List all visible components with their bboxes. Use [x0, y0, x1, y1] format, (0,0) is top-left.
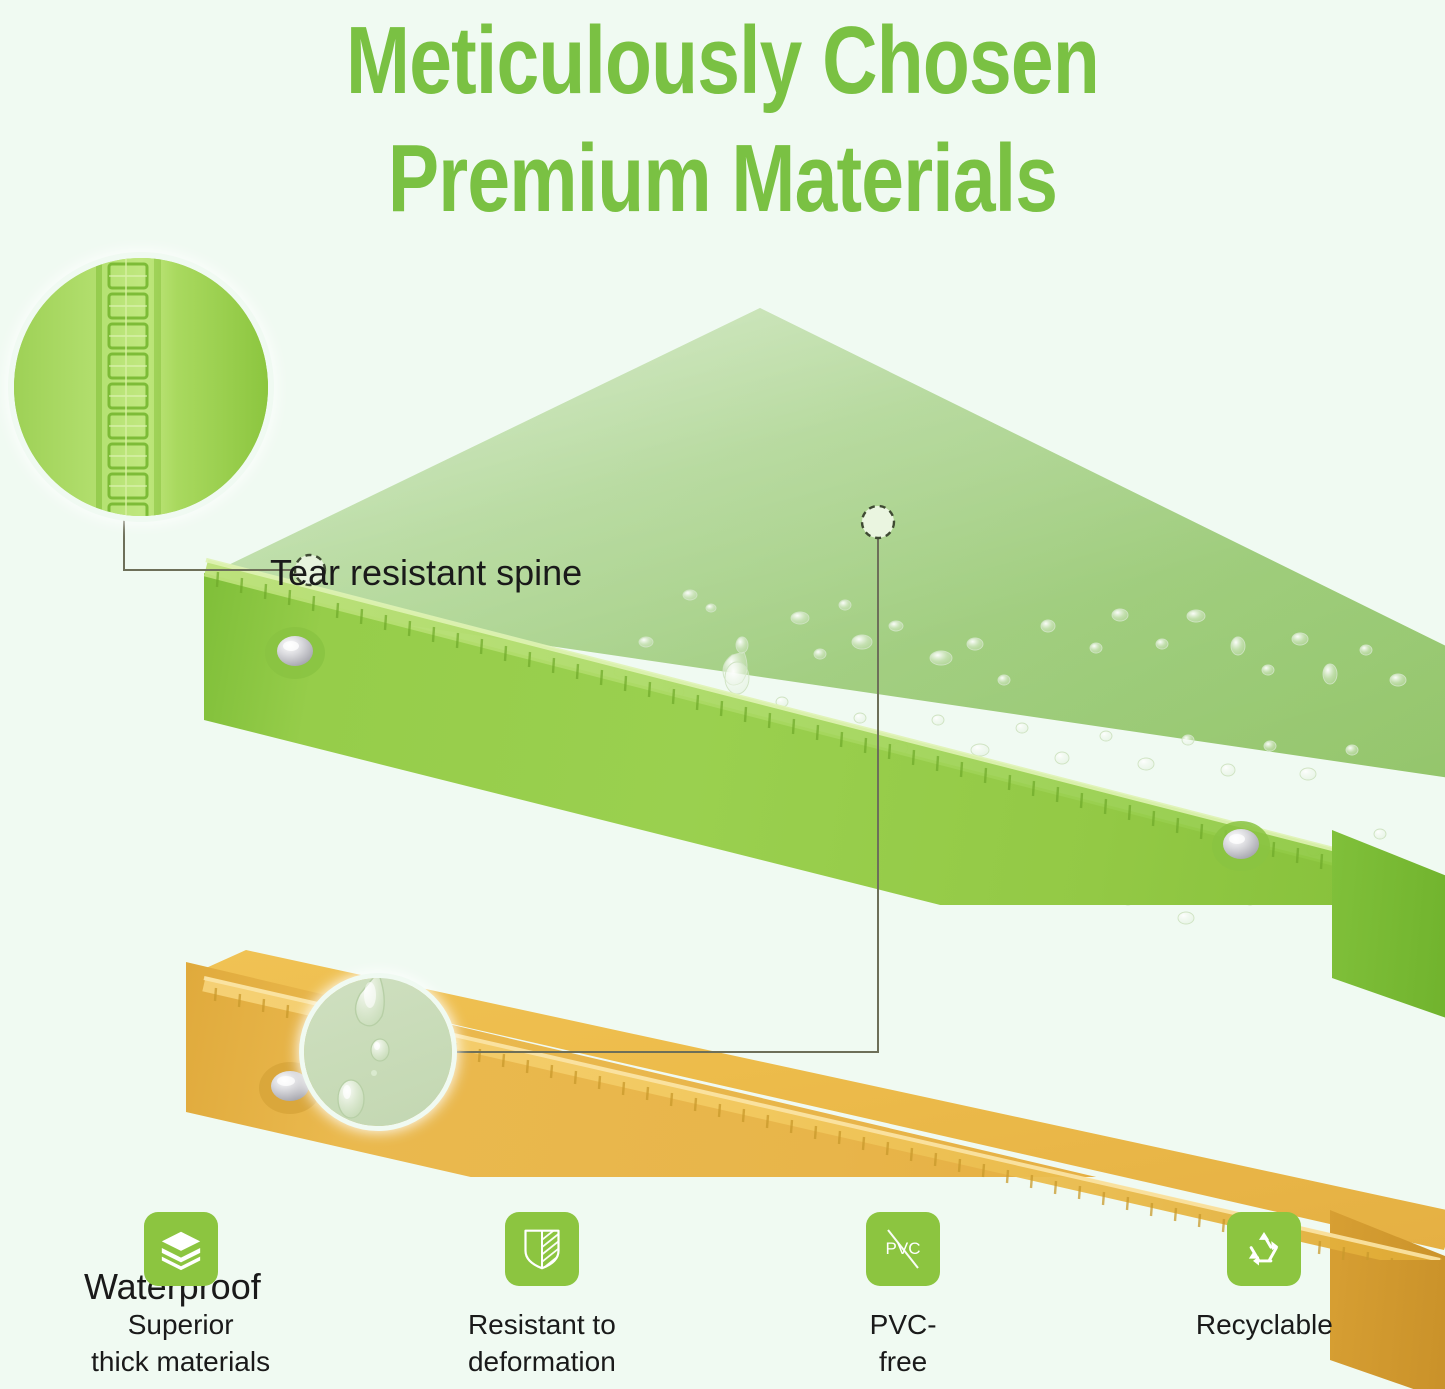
recycle-icon [1242, 1227, 1286, 1271]
layers-icon-tile [144, 1212, 218, 1286]
spine-closeup-magnifier [14, 258, 268, 516]
recycle-icon-tile [1227, 1212, 1301, 1286]
water-droplet-closeup [304, 978, 452, 1126]
feature-label: Superior thick materials [91, 1306, 270, 1380]
feature-recyclable: Recyclable [1084, 1212, 1445, 1389]
spine-texture [14, 258, 268, 516]
page-title: Meticulously Chosen Premium Materials [0, 2, 1445, 238]
pvc-free-icon-tile: PVC [866, 1212, 940, 1286]
feature-row: Superior thick materials [0, 1212, 1445, 1389]
callout-label-tear-resistant-spine: Tear resistant spine [270, 553, 582, 593]
feature-superior-thick-materials: Superior thick materials [0, 1212, 361, 1389]
shield-icon [520, 1227, 564, 1271]
shield-icon-tile [505, 1212, 579, 1286]
feature-pvc-free: PVC PVC- free [723, 1212, 1084, 1389]
product-infographic: Meticulously Chosen Premium Materials [0, 0, 1445, 1389]
feature-label: Recyclable [1196, 1306, 1333, 1343]
green-binder-right-face [1332, 830, 1445, 1040]
feature-label: PVC- free [870, 1306, 937, 1380]
layers-icon [158, 1226, 204, 1272]
feature-resistant-to-deformation: Resistant to deformation [361, 1212, 722, 1389]
page-title-line-2: Premium Materials [145, 120, 1301, 238]
pvc-free-icon: PVC [879, 1225, 927, 1273]
page-title-line-1: Meticulously Chosen [145, 2, 1301, 120]
feature-label: Resistant to deformation [468, 1306, 616, 1380]
waterproof-closeup-magnifier [304, 978, 452, 1126]
product-photo: Tear resistant spine Waterproof [0, 250, 1445, 1200]
